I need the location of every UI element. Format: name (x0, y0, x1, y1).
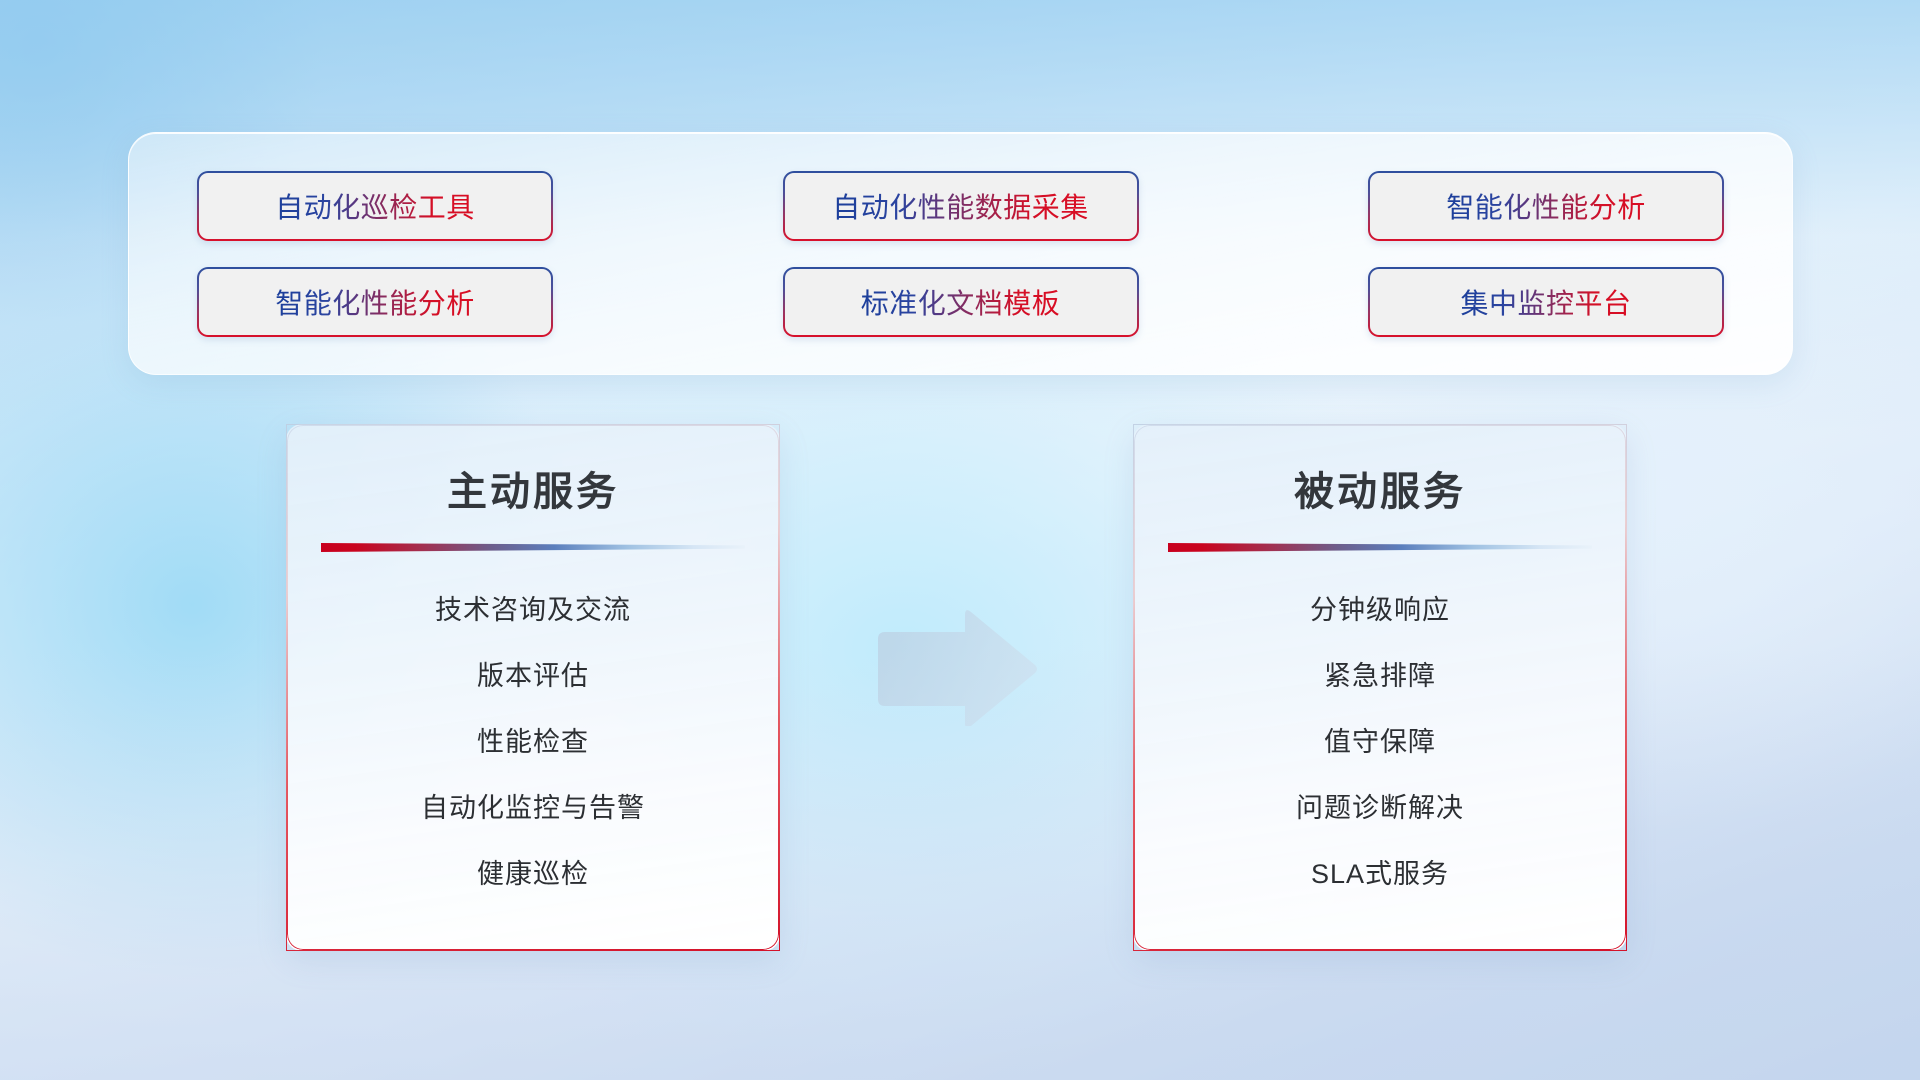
divider-gradient-shape (321, 543, 745, 552)
capability-row-2: 智能化性能分析 标准化文档模板 集中监控平台 (197, 267, 1724, 337)
capability-tag-central-monitoring-platform[interactable]: 集中监控平台 (1368, 267, 1724, 337)
list-item: 值守保障 (1324, 720, 1436, 759)
card-item-list: 技术咨询及交流 版本评估 性能检查 自动化监控与告警 健康巡检 (287, 588, 779, 891)
tag-inner: 智能化性能分析 (199, 269, 551, 335)
capability-tag-auto-inspection-tool[interactable]: 自动化巡检工具 (197, 171, 553, 241)
list-item: 版本评估 (477, 654, 589, 693)
card-title: 被动服务 (1134, 459, 1626, 517)
tag-inner: 标准化文档模板 (785, 269, 1137, 335)
tag-inner: 自动化巡检工具 (199, 173, 551, 239)
list-item: 紧急排障 (1324, 654, 1436, 693)
list-item: SLA式服务 (1311, 852, 1449, 891)
list-item: 性能检查 (477, 720, 589, 759)
list-item: 分钟级响应 (1310, 588, 1450, 627)
capability-row-1: 自动化巡检工具 自动化性能数据采集 智能化性能分析 (197, 171, 1724, 241)
card-title: 主动服务 (287, 459, 779, 517)
service-card-reactive[interactable]: 被动服务 分钟级响应 紧急排障 值守保障 问题诊断解决 SLA式服务 (1133, 424, 1627, 951)
tag-inner: 自动化性能数据采集 (785, 173, 1137, 239)
tag-label: 智能化性能分析 (275, 282, 475, 322)
arrow-right-icon (872, 608, 1037, 726)
tag-label: 智能化性能分析 (1446, 186, 1646, 226)
service-card-proactive[interactable]: 主动服务 技术咨询及交流 版本评估 性能检查 自动化监控与告警 健康巡检 (286, 424, 780, 951)
tag-label: 标准化文档模板 (861, 282, 1061, 322)
tag-inner: 智能化性能分析 (1370, 173, 1722, 239)
list-item: 问题诊断解决 (1296, 786, 1464, 825)
capability-tag-smart-perf-analysis[interactable]: 智能化性能分析 (1368, 171, 1724, 241)
card-item-list: 分钟级响应 紧急排障 值守保障 问题诊断解决 SLA式服务 (1134, 588, 1626, 891)
card-divider (321, 543, 745, 552)
capability-tag-standard-doc-template[interactable]: 标准化文档模板 (783, 267, 1139, 337)
tag-label: 自动化巡检工具 (275, 186, 475, 226)
capability-tag-smart-perf-analysis-2[interactable]: 智能化性能分析 (197, 267, 553, 337)
card-divider (1168, 543, 1592, 552)
tag-inner: 集中监控平台 (1370, 269, 1722, 335)
list-item: 技术咨询及交流 (435, 588, 631, 627)
tag-label: 自动化性能数据采集 (832, 186, 1089, 226)
capability-panel: 自动化巡检工具 自动化性能数据采集 智能化性能分析 智能化性能分析 标准化文档模… (128, 132, 1793, 375)
tag-label: 集中监控平台 (1460, 282, 1631, 322)
list-item: 健康巡检 (477, 852, 589, 891)
capability-tag-auto-perf-data-collection[interactable]: 自动化性能数据采集 (783, 171, 1139, 241)
divider-gradient-shape (1168, 543, 1592, 552)
list-item: 自动化监控与告警 (421, 786, 645, 825)
